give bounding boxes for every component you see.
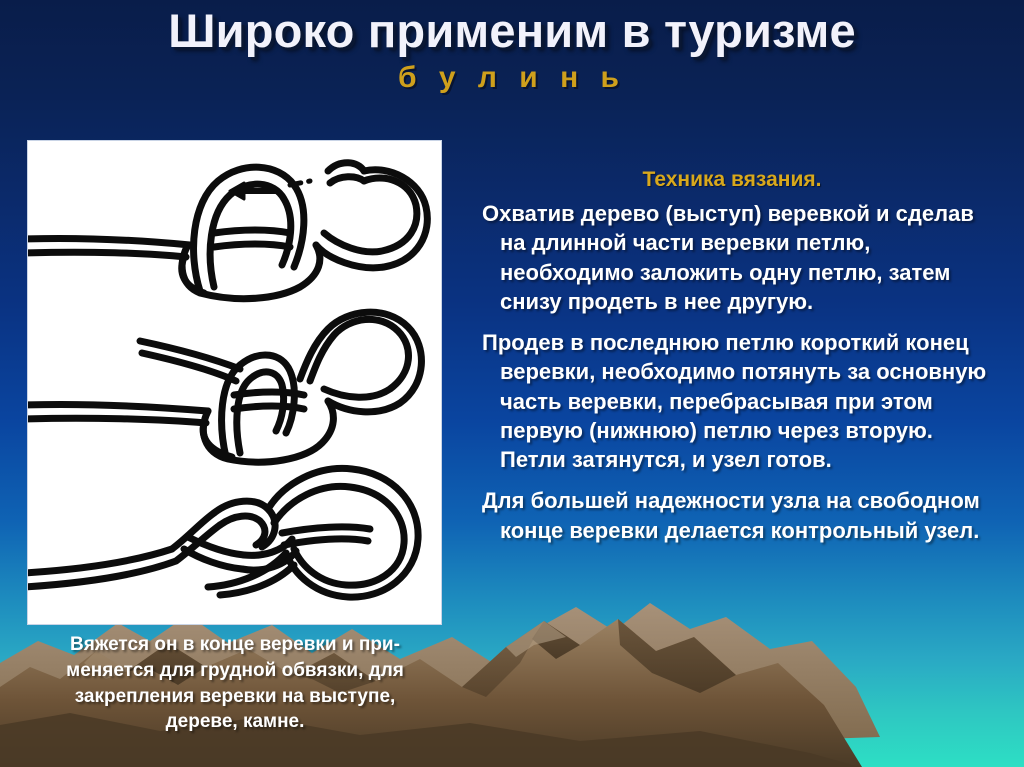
title-block: Широко применим в туризме б у л и н ь <box>0 6 1024 95</box>
caption-line: Вяжется он в конце веревки и при- <box>18 632 452 658</box>
picture-caption: Вяжется он в конце веревки и при- меняет… <box>18 632 452 735</box>
page-subtitle: б у л и н ь <box>0 61 1024 95</box>
bowline-knot-illustration <box>28 141 441 624</box>
caption-line: меняется для грудной обвязки, для <box>18 658 452 684</box>
technique-heading: Техника вязания. <box>462 168 1002 192</box>
caption-line: дереве, камне. <box>18 709 452 735</box>
presentation-slide: Широко применим в туризме б у л и н ь <box>0 0 1024 767</box>
technique-paragraph: Охватив дерево (выступ) веревкой и сдела… <box>462 199 1002 316</box>
technique-paragraph: Для большей надежности узла на свободном… <box>462 486 1002 545</box>
caption-line: закрепления веревки на выступе, <box>18 684 452 710</box>
technique-paragraph: Продев в последнюю петлю короткий конец … <box>462 328 1002 474</box>
page-title: Широко применим в туризме <box>0 6 1024 57</box>
technique-text-column: Техника вязания. Охватив дерево (выступ)… <box>462 168 1002 545</box>
knot-diagram-panel <box>27 140 442 625</box>
